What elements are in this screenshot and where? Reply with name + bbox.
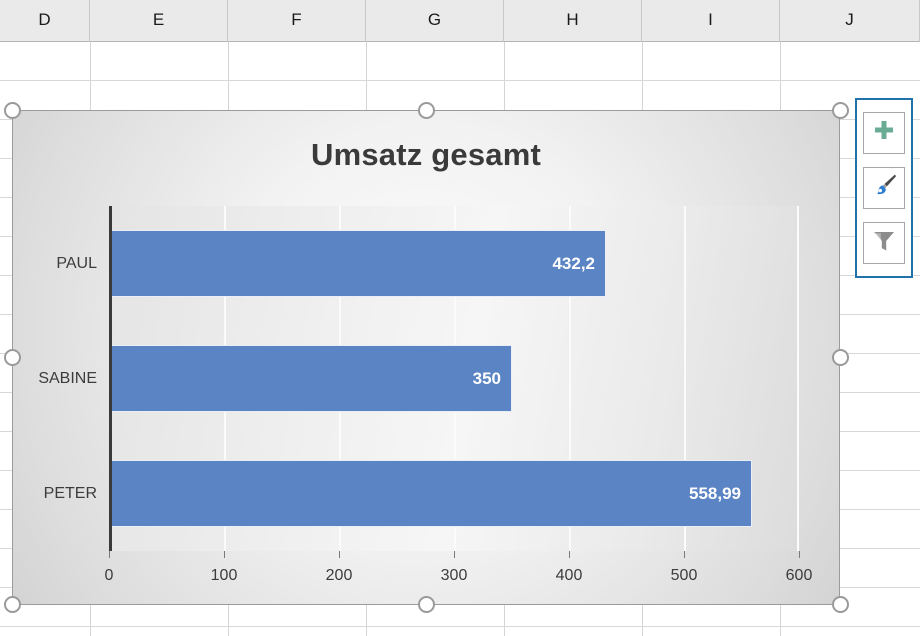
x-tick-label-200: 200 [326,567,353,585]
plus-icon [872,118,896,147]
bar-label-peter: 558,99 [689,484,741,504]
x-tick-mark [684,551,685,558]
handle-top-left[interactable] [4,102,21,119]
handle-top-right[interactable] [832,102,849,119]
chart-filters-button[interactable] [863,222,905,264]
x-tick-mark [454,551,455,558]
handle-bottom-right[interactable] [832,596,849,613]
handle-middle-right[interactable] [832,349,849,366]
column-header-h[interactable]: H [504,0,642,42]
x-tick-label-600: 600 [786,567,813,585]
category-label-peter: PETER [44,485,97,503]
x-tick-mark [109,551,110,558]
chart-quick-buttons-panel [855,98,913,278]
chart-object[interactable]: Umsatz gesamt PAUL SABINE PETER 432,2 35… [12,110,840,605]
handle-bottom-left[interactable] [4,596,21,613]
bar-sabine[interactable]: 350 [109,345,512,412]
handle-top-center[interactable] [418,102,435,119]
x-tick-mark [224,551,225,558]
handle-middle-left[interactable] [4,349,21,366]
funnel-icon [872,229,896,258]
column-header-i[interactable]: I [642,0,780,42]
paintbrush-icon [871,172,897,203]
bar-label-paul: 432,2 [552,254,595,274]
x-tick-mark [339,551,340,558]
bar-paul[interactable]: 432,2 [109,230,606,297]
grid-hline [0,626,920,627]
x-tick-label-300: 300 [441,567,468,585]
x-tick-mark [799,551,800,558]
x-tick-mark [569,551,570,558]
column-header-d[interactable]: D [0,0,90,42]
value-axis: 0 100 200 300 400 500 600 [109,551,809,591]
column-header-e[interactable]: E [90,0,228,42]
handle-bottom-center[interactable] [418,596,435,613]
grid-hline [0,80,920,81]
bar-peter[interactable]: 558,99 [109,460,752,527]
value-axis-line [109,206,112,551]
x-tick-label-400: 400 [556,567,583,585]
gridline-600 [797,206,799,551]
x-tick-label-100: 100 [211,567,238,585]
column-header-g[interactable]: G [366,0,504,42]
category-label-paul: PAUL [56,255,97,273]
bar-label-sabine: 350 [473,369,501,389]
excel-worksheet: D E F G H I J Umsatz gesamt PAUL [0,0,920,636]
column-header-f[interactable]: F [228,0,366,42]
category-axis: PAUL SABINE PETER [13,206,109,551]
chart-title[interactable]: Umsatz gesamt [13,137,839,173]
column-header-j[interactable]: J [780,0,920,42]
x-tick-label-0: 0 [105,567,114,585]
plot-area: 432,2 350 558,99 [109,206,799,551]
x-tick-label-500: 500 [671,567,698,585]
chart-elements-button[interactable] [863,112,905,154]
category-label-sabine: SABINE [38,370,97,388]
chart-styles-button[interactable] [863,167,905,209]
